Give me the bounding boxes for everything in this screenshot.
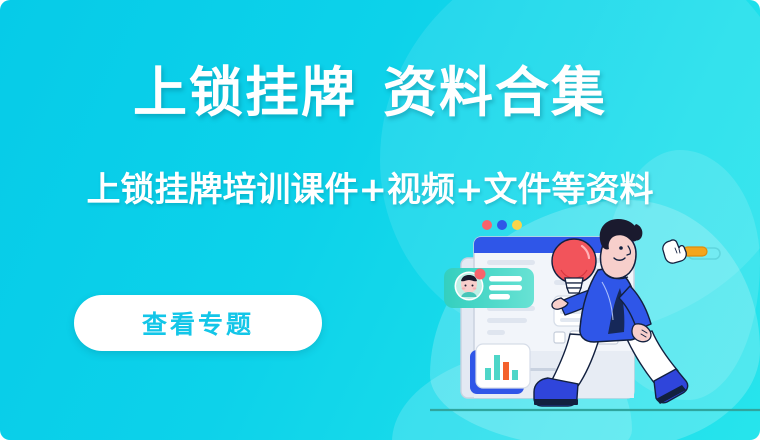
headline-part-1: 上锁挂牌	[133, 61, 357, 124]
hero-illustration: × × × × ×	[430, 210, 760, 440]
view-topic-button[interactable]: 查看专题	[74, 295, 322, 351]
hand-pointer-cursor	[663, 240, 720, 263]
profile-card	[444, 268, 534, 308]
bar-chart-card	[470, 344, 530, 394]
notification-badge	[475, 269, 486, 280]
promo-banner: 上锁挂牌资料合集 上锁挂牌培训课件+视频+文件等资料 查看专题	[0, 0, 760, 440]
headline-part-2: 资料合集	[383, 61, 607, 124]
view-topic-button-label: 查看专题	[142, 305, 254, 341]
banner-subheadline: 上锁挂牌培训课件+视频+文件等资料	[0, 168, 740, 212]
window-dots	[482, 220, 522, 230]
banner-headline: 上锁挂牌资料合集	[0, 62, 740, 124]
